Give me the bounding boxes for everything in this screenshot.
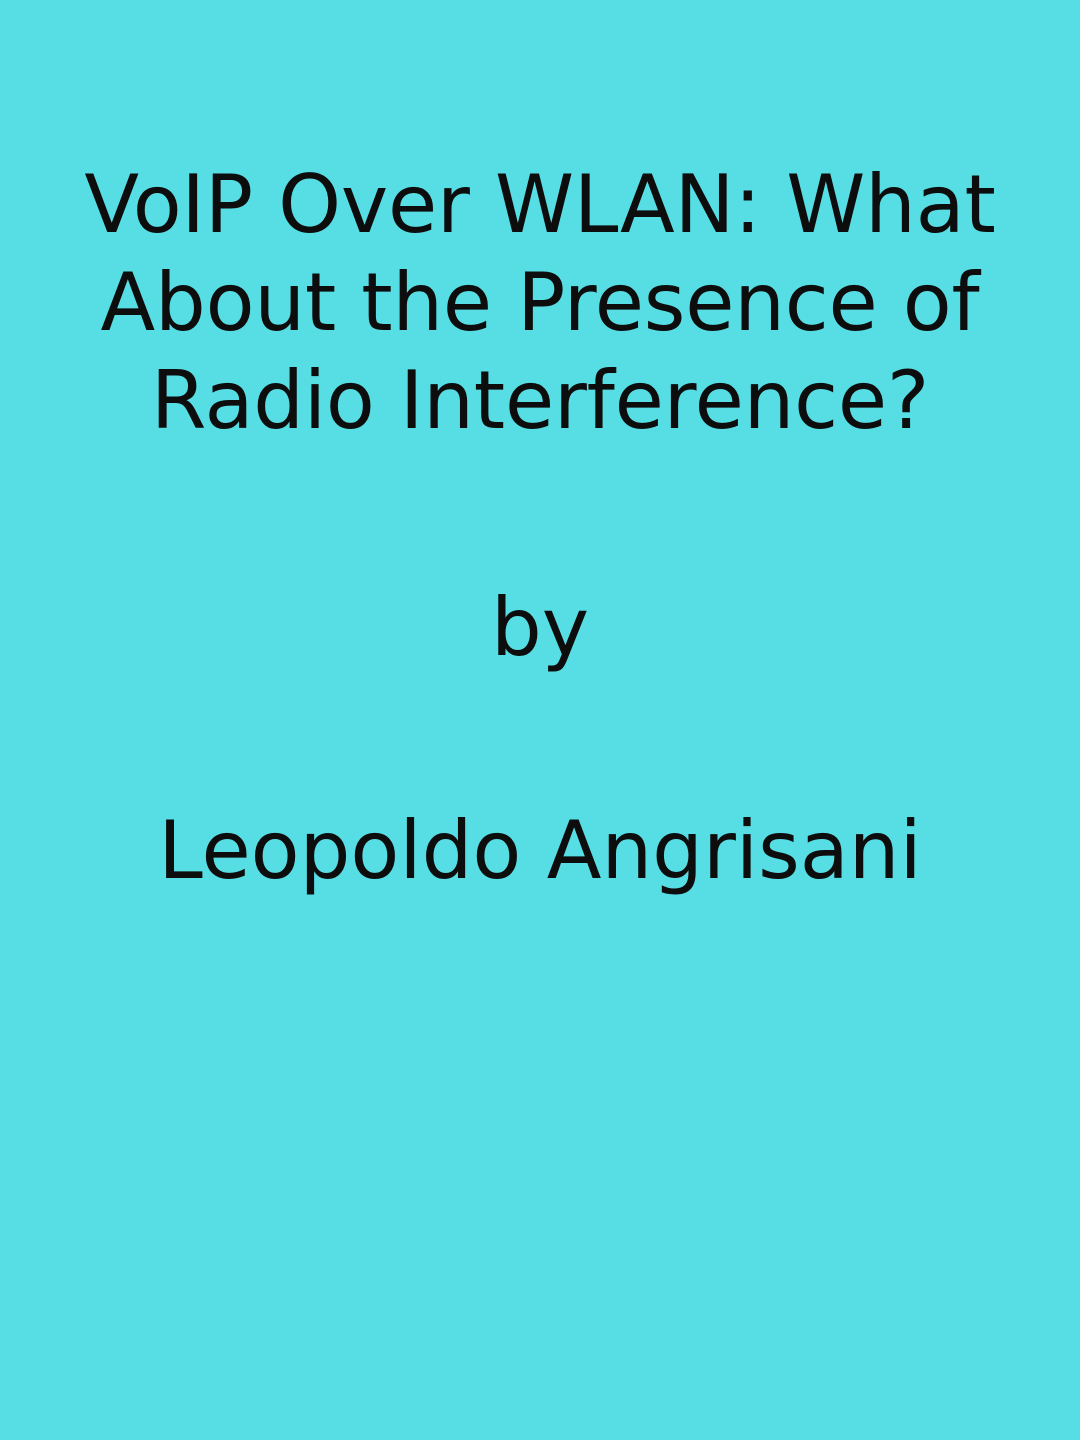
title-slide: VoIP Over WLAN: What About the Presence … xyxy=(0,0,1080,1440)
title-line-1: VoIP Over WLAN: What xyxy=(0,156,1080,254)
title-line-2: About the Presence of xyxy=(0,254,1080,352)
empty-lower-region xyxy=(0,920,1080,1440)
title-line-3: Radio Interference? xyxy=(0,352,1080,450)
byline-label: by xyxy=(0,579,1080,677)
author-name: Leopoldo Angrisani xyxy=(0,802,1080,900)
